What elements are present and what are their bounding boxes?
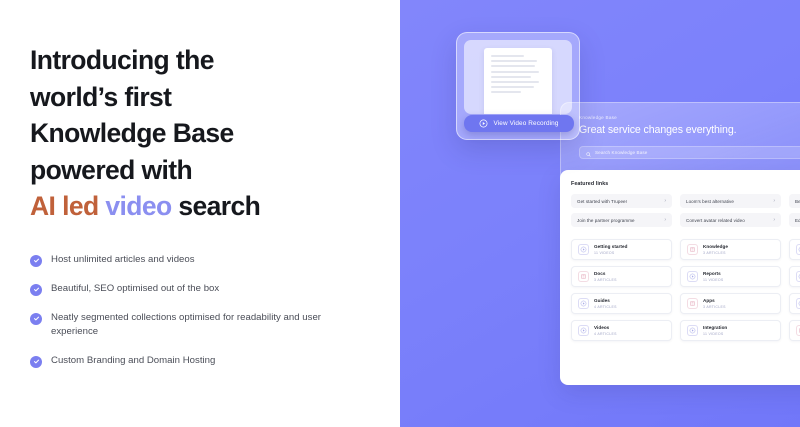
play-circle-icon [796, 271, 800, 282]
doc-line [491, 76, 531, 78]
play-circle-icon [479, 115, 488, 133]
knowledge-base-content-panel: Featured links Get started with Trupeer … [560, 170, 800, 385]
featured-links-heading: Featured links [571, 181, 800, 187]
list-item: Beautiful, SEO optimised out of the box [30, 282, 330, 296]
collection-card[interactable]: Guides 4 ARTICLES [571, 293, 672, 314]
collection-card[interactable]: Knowledge 3 ARTICLES [680, 239, 781, 260]
chevron-right-icon: › [773, 218, 775, 223]
headline-line-2: world’s first [30, 82, 171, 112]
check-circle-icon [30, 284, 42, 296]
search-icon [586, 144, 591, 162]
play-circle-icon [578, 298, 589, 309]
collections-grid: Getting started 11 VIDEOS Knowledge 3 AR… [571, 239, 800, 341]
collection-meta: 11 VIDEOS [594, 250, 627, 256]
featured-link-label: Edit video with [795, 218, 800, 223]
collection-meta: 3 ARTICLES [703, 250, 728, 256]
doc-line [491, 55, 524, 57]
document-preview [484, 48, 552, 114]
headline-plain-search: search [178, 191, 260, 221]
collection-card[interactable]: Videos 4 ARTICLES [571, 320, 672, 341]
collection-card[interactable]: Reports 11 VIDEOS [680, 266, 781, 287]
collection-card[interactable]: Docs 3 ARTICLES [571, 266, 672, 287]
feature-label: Neatly segmented collections optimised f… [51, 311, 330, 339]
feature-list: Host unlimited articles and videos Beaut… [30, 253, 330, 368]
featured-link-label: Get started with Trupeer [577, 199, 627, 204]
document-icon [687, 244, 698, 255]
hero-left-pane: Introducing the world’s first Knowledge … [0, 0, 400, 427]
feature-label: Host unlimited articles and videos [51, 253, 195, 267]
collection-title: Knowledge [703, 244, 728, 250]
doc-line [491, 86, 534, 88]
video-preview-thumbnail [464, 40, 572, 114]
doc-line [491, 60, 537, 62]
featured-link-label: Best AI tool for [795, 199, 800, 204]
document-icon [578, 271, 589, 282]
collection-meta: 3 ARTICLES [703, 304, 726, 310]
doc-line [491, 71, 539, 73]
collection-title: Reports [703, 271, 724, 277]
play-circle-icon [796, 244, 800, 255]
featured-link[interactable]: Loom's best alternative › [680, 194, 781, 208]
doc-line [491, 65, 535, 67]
collection-meta: 11 VIDEOS [703, 331, 727, 337]
featured-link[interactable]: Best AI tool for › [789, 194, 800, 208]
view-video-recording-label: View Video Recording [493, 120, 558, 127]
collection-card[interactable]: Getting started 11 VIDEOS [571, 239, 672, 260]
collection-card[interactable]: Apps 3 ARTICLES [680, 293, 781, 314]
play-circle-icon [578, 325, 589, 336]
chevron-right-icon: › [773, 199, 775, 204]
landing-page: Introducing the world’s first Knowledge … [0, 0, 800, 427]
play-circle-icon [796, 298, 800, 309]
document-icon [796, 325, 800, 336]
collection-title: Integration [703, 325, 727, 331]
doc-line [491, 81, 539, 83]
mockup-eyebrow: Knowledge Base [579, 115, 800, 120]
play-circle-icon [687, 271, 698, 282]
check-circle-icon [30, 255, 42, 267]
doc-line [491, 91, 521, 93]
headline-line-4: powered with [30, 155, 192, 185]
collection-title: Getting started [594, 244, 627, 250]
chevron-right-icon: › [664, 218, 666, 223]
collection-card[interactable]: Secur 4 ARTIC [789, 239, 800, 260]
list-item: Host unlimited articles and videos [30, 253, 330, 267]
play-circle-icon [687, 325, 698, 336]
featured-link[interactable]: Get started with Trupeer › [571, 194, 672, 208]
document-icon [687, 298, 698, 309]
play-circle-icon [578, 244, 589, 255]
featured-link[interactable]: Convert avatar related video › [680, 213, 781, 227]
featured-link-label: Convert avatar related video [686, 218, 745, 223]
collection-meta: 11 VIDEOS [703, 277, 724, 283]
featured-link-label: Loom's best alternative [686, 199, 734, 204]
search-placeholder-label: Search Knowledge Base [595, 150, 647, 155]
headline-line-1: Introducing the [30, 45, 214, 75]
video-recording-card: View Video Recording [456, 32, 580, 140]
list-item: Neatly segmented collections optimised f… [30, 311, 330, 339]
feature-label: Custom Branding and Domain Hosting [51, 354, 215, 368]
mockup-hero-title: Great service changes everything. [579, 124, 800, 136]
featured-link-label: Join the partner programme [577, 218, 635, 223]
collection-meta: 4 ARTICLES [594, 304, 617, 310]
headline-accent-ai: AI led [30, 191, 99, 221]
check-circle-icon [30, 313, 42, 325]
collection-meta: 3 ARTICLES [594, 277, 617, 283]
page-title: Introducing the world’s first Knowledge … [30, 42, 330, 225]
collection-card[interactable]: Outbo 11 VIDE [789, 293, 800, 314]
featured-links-grid: Get started with Trupeer › Loom's best a… [571, 194, 800, 227]
headline-accent-video: video [105, 191, 171, 221]
featured-link[interactable]: Edit video with › [789, 213, 800, 227]
feature-label: Beautiful, SEO optimised out of the box [51, 282, 219, 296]
collection-card[interactable]: Inbo 3 ARTI [789, 320, 800, 341]
knowledge-base-search-input[interactable]: Search Knowledge Base [579, 146, 800, 159]
chevron-right-icon: › [664, 199, 666, 204]
headline-line-3: Knowledge Base [30, 118, 234, 148]
list-item: Custom Branding and Domain Hosting [30, 354, 330, 368]
collection-card[interactable]: Watch 4 ARTIC [789, 266, 800, 287]
collection-meta: 4 ARTICLES [594, 331, 617, 337]
view-video-recording-button[interactable]: View Video Recording [464, 115, 574, 132]
check-circle-icon [30, 356, 42, 368]
featured-link[interactable]: Join the partner programme › [571, 213, 672, 227]
collection-card[interactable]: Integration 11 VIDEOS [680, 320, 781, 341]
